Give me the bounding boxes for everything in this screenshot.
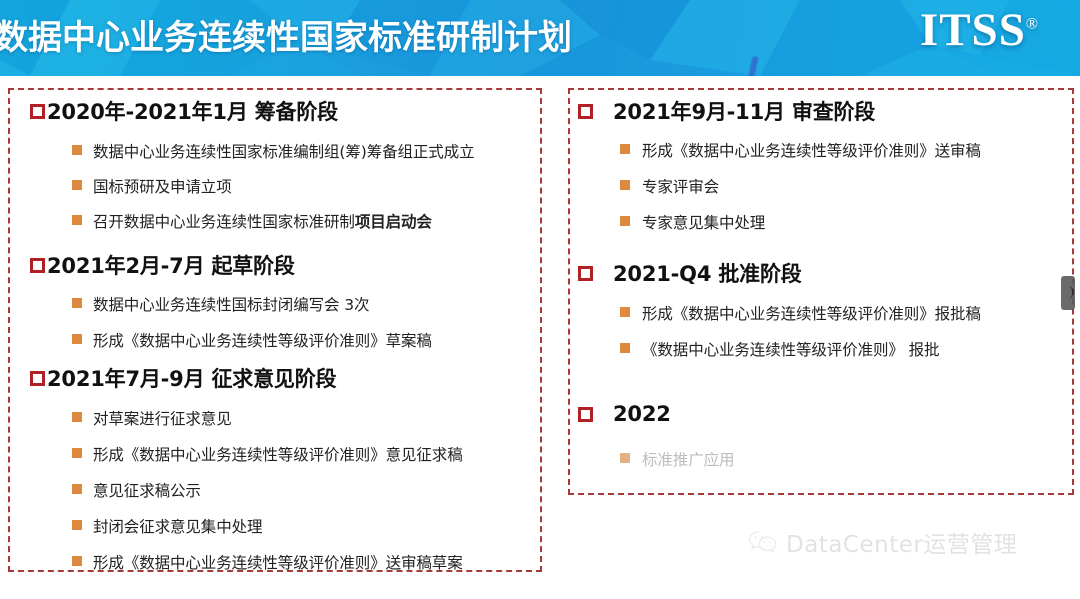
filled-square-bullet-icon [72, 298, 82, 308]
list-item: 形成《数据中心业务连续性等级评价准则》送审稿草案 [72, 551, 602, 573]
list-item-label: 封闭会征求意见集中处理 [93, 515, 262, 537]
list-item-label: 意见征求稿公示 [93, 479, 201, 501]
header-banner: 数据中心业务连续性国家标准研制计划 ITSS® [0, 0, 1080, 76]
list-item: 标准推广应用 [620, 448, 1080, 470]
phase-title: 2020年-2021年1月 筹备阶段 [47, 96, 338, 126]
hollow-square-bullet-icon [578, 266, 593, 281]
list-item-label: 形成《数据中心业务连续性等级评价准则》草案稿 [93, 329, 432, 351]
list-item: 形成《数据中心业务连续性等级评价准则》草案稿 [72, 329, 602, 351]
list-item: 对草案进行征求意见 [72, 407, 602, 429]
registered-trademark-icon: ® [1026, 15, 1038, 32]
filled-square-bullet-icon [620, 216, 630, 226]
list-item: 国标预研及申请立项 [72, 175, 602, 197]
list-item-emphasis: 项目启动会 [355, 213, 432, 231]
phase-heading: 2021年2月-7月 起草阶段 [30, 250, 540, 280]
phase-block: 2021年7月-9月 征求意见阶段 [10, 363, 540, 393]
list-item-label: 形成《数据中心业务连续性等级评价准则》送审稿草案 [93, 551, 463, 573]
list-item-label: 数据中心业务连续性国标封闭编写会 3次 [93, 293, 369, 315]
list-item: 数据中心业务连续性国家标准编制组(筹)筹备组正式成立 [72, 140, 602, 162]
phase-block: 2021年9月-11月 审查阶段 [570, 96, 1072, 126]
hollow-square-bullet-icon [578, 407, 593, 422]
list-item-label: 形成《数据中心业务连续性等级评价准则》意见征求稿 [93, 443, 463, 465]
phase-block: 2021-Q4 批准阶段 [570, 258, 1072, 288]
itss-logo: ITSS® [920, 7, 1038, 54]
list-item: 形成《数据中心业务连续性等级评价准则》报批稿 [620, 302, 1080, 324]
phase-title: 2022 [613, 402, 671, 426]
hollow-square-bullet-icon [30, 258, 45, 273]
filled-square-bullet-icon [620, 307, 630, 317]
hollow-square-bullet-icon [578, 104, 593, 119]
list-item: 数据中心业务连续性国标封闭编写会 3次 [72, 293, 602, 315]
list-item-label: 召开数据中心业务连续性国家标准研制项目启动会 [93, 210, 432, 232]
filled-square-bullet-icon [620, 144, 630, 154]
filled-square-bullet-icon [620, 343, 630, 353]
list-item-label: 形成《数据中心业务连续性等级评价准则》送审稿 [642, 139, 981, 161]
list-item: 专家评审会 [620, 175, 1080, 197]
phase-heading: 2021年9月-11月 审查阶段 [578, 96, 1072, 126]
list-item: 封闭会征求意见集中处理 [72, 515, 602, 537]
list-item-label: 《数据中心业务连续性等级评价准则》 报批 [642, 338, 939, 360]
phase-title: 2021-Q4 批准阶段 [613, 258, 802, 288]
phase-heading: 2022 [578, 402, 1072, 426]
list-item-label: 专家评审会 [642, 175, 719, 197]
filled-square-bullet-icon [72, 334, 82, 344]
list-item-label: 国标预研及申请立项 [93, 175, 232, 197]
filled-square-bullet-icon [72, 556, 82, 566]
filled-square-bullet-icon [72, 520, 82, 530]
watermark: DataCenter运营管理 [748, 525, 1017, 559]
list-item: 形成《数据中心业务连续性等级评价准则》送审稿 [620, 139, 1080, 161]
list-item-label: 数据中心业务连续性国家标准编制组(筹)筹备组正式成立 [93, 140, 475, 162]
list-item-label: 专家意见集中处理 [642, 211, 765, 233]
phase-block: 2022 [570, 402, 1072, 426]
list-item: 形成《数据中心业务连续性等级评价准则》意见征求稿 [72, 443, 602, 465]
filled-square-bullet-icon [72, 215, 82, 225]
filled-square-bullet-icon [72, 412, 82, 422]
hollow-square-bullet-icon [30, 371, 45, 386]
page-title: 数据中心业务连续性国家标准研制计划 [0, 10, 572, 59]
phase-title: 2021年9月-11月 审查阶段 [613, 96, 875, 126]
filled-square-bullet-icon [72, 448, 82, 458]
filled-square-bullet-icon [72, 484, 82, 494]
watermark-label: DataCenter运营管理 [786, 525, 1017, 559]
list-item: 意见征求稿公示 [72, 479, 602, 501]
phase-heading: 2021年7月-9月 征求意见阶段 [30, 363, 540, 393]
stylus-artifact [1061, 276, 1075, 310]
filled-square-bullet-icon [72, 180, 82, 190]
left-timeline-panel: 2020年-2021年1月 筹备阶段 数据中心业务连续性国家标准编制组(筹)筹备… [8, 88, 542, 572]
filled-square-bullet-icon [620, 453, 630, 463]
list-item-label: 形成《数据中心业务连续性等级评价准则》报批稿 [642, 302, 981, 324]
phase-title: 2021年2月-7月 起草阶段 [47, 250, 295, 280]
wechat-icon [748, 530, 778, 554]
phase-block: 2020年-2021年1月 筹备阶段 [10, 96, 540, 126]
phase-heading: 2021-Q4 批准阶段 [578, 258, 1072, 288]
phase-heading: 2020年-2021年1月 筹备阶段 [30, 96, 540, 126]
right-timeline-panel: 2021年9月-11月 审查阶段 形成《数据中心业务连续性等级评价准则》送审稿 … [568, 88, 1074, 495]
phase-title: 2021年7月-9月 征求意见阶段 [47, 363, 336, 393]
list-item: 专家意见集中处理 [620, 211, 1080, 233]
filled-square-bullet-icon [620, 180, 630, 190]
list-item-label: 对草案进行征求意见 [93, 407, 232, 429]
hollow-square-bullet-icon [30, 104, 45, 119]
list-item: 《数据中心业务连续性等级评价准则》 报批 [620, 338, 1080, 360]
list-item-label: 标准推广应用 [642, 448, 734, 470]
list-item: 召开数据中心业务连续性国家标准研制项目启动会 [72, 210, 602, 232]
itss-logo-text: ITSS [920, 4, 1026, 56]
phase-block: 2021年2月-7月 起草阶段 [10, 250, 540, 280]
filled-square-bullet-icon [72, 145, 82, 155]
